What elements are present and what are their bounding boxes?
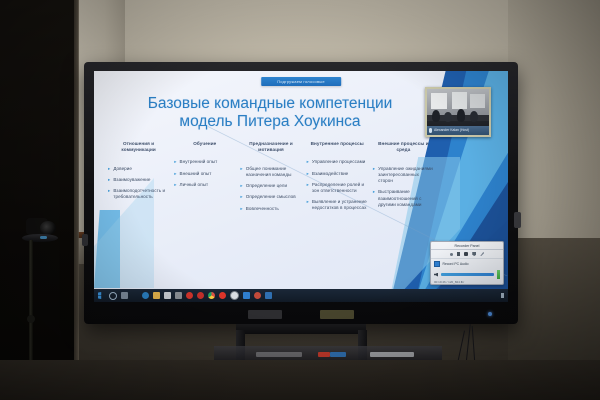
column-purpose: Предназначение и мотивация ▸ Общее поним… — [240, 141, 301, 217]
stop-icon[interactable] — [464, 252, 468, 256]
list-item: ▸ Взаимодействие — [307, 171, 368, 177]
slide-title-line-1: Базовые командные компетенции — [120, 95, 420, 113]
bullet-arrow-icon: ▸ — [108, 188, 110, 194]
column-header: Отношения и коммуникации — [108, 141, 169, 154]
list-item: ▸ Управление процессами — [307, 159, 368, 165]
record-audio-label: Record PC Audio — [443, 262, 469, 266]
list-item-label: Доверие — [113, 166, 132, 172]
list-item-label: Внешний опыт — [180, 171, 212, 177]
webcam-person-3 — [457, 109, 466, 122]
list-item: ▸ Выстраивание взаимоотношений с другими… — [373, 189, 434, 208]
list-item-label: Внутренний опыт — [180, 159, 218, 165]
speaker-icon[interactable] — [434, 273, 438, 277]
list-item: ▸ Управление ожиданиями заинтересованных… — [373, 166, 434, 185]
bullet-arrow-icon: ▸ — [108, 166, 110, 172]
display-bottom-stickers — [248, 310, 354, 319]
column-external-processes: Внешние процессы и среда ▸ Управление ож… — [373, 141, 434, 217]
pen-icon[interactable] — [480, 252, 484, 256]
bullet-arrow-icon: ▸ — [240, 166, 242, 172]
volume-row[interactable] — [431, 269, 503, 280]
recorder-status: 00:19:46 / 120_824.fbr — [431, 280, 503, 284]
bullet-arrow-icon: ▸ — [240, 206, 242, 212]
system-tray[interactable] — [501, 293, 504, 298]
yandex-icon[interactable] — [219, 292, 226, 299]
level-meter — [497, 270, 500, 279]
list-item-label: Выстраивание взаимоотношений с другими к… — [378, 189, 434, 208]
pause-icon[interactable] — [457, 252, 461, 256]
shelf-device-1 — [256, 352, 302, 357]
list-item: ▸ Выявление и устранение недостатков в п… — [307, 199, 368, 211]
microphone-icon — [429, 128, 432, 133]
file-explorer-icon[interactable] — [153, 292, 160, 299]
webcam-person-2 — [444, 112, 451, 122]
tripod-knob-upper — [27, 315, 35, 323]
display-bezel-inner: Подгружаем голосовые Базовые командные к… — [94, 71, 508, 302]
volume-slider[interactable] — [441, 273, 494, 276]
list-item: ▸ Взаимоподотчетность и требовательность — [108, 188, 169, 200]
list-item: ▸ Внутренний опыт — [174, 159, 235, 165]
start-button-icon[interactable] — [98, 292, 105, 299]
recorder-panel-title: Recorder Panel — [431, 242, 503, 250]
column-header: Внутренние процессы — [307, 141, 368, 147]
camera-lens-icon — [40, 221, 56, 235]
list-item: ▸ Личный опыт — [174, 182, 235, 188]
shelf-device-4 — [370, 352, 414, 357]
bullet-arrow-icon: ▸ — [174, 171, 176, 177]
webcam-whiteboard-2 — [452, 92, 467, 109]
display-side-button[interactable] — [514, 212, 521, 228]
dark-doorway — [0, 0, 78, 400]
bullet-arrow-icon: ▸ — [307, 159, 309, 165]
list-item: ▸ Распределение ролей и зон ответственно… — [307, 182, 368, 194]
bullet-arrow-icon: ▸ — [174, 182, 176, 188]
list-item: ▸ Определение смыслов — [240, 194, 301, 200]
list-item-label: Личный опыт — [180, 182, 209, 188]
floor — [0, 360, 600, 400]
list-item-label: Управление ожиданиями заинтересованных с… — [378, 166, 434, 185]
checkbox-icon[interactable] — [434, 261, 440, 267]
display-sticker-left — [248, 310, 282, 319]
column-header: Обучение — [174, 141, 235, 147]
edge-icon[interactable] — [142, 292, 149, 299]
list-item-label: Выявление и устранение недостатков в про… — [312, 199, 368, 211]
briefcase-icon[interactable] — [175, 292, 182, 299]
bullet-arrow-icon: ▸ — [373, 189, 375, 195]
presentation-slide: Подгружаем голосовые Базовые командные к… — [94, 71, 508, 302]
tray-indicator-icon — [501, 293, 504, 298]
search-icon[interactable] — [109, 292, 117, 300]
list-item-label: Управление процессами — [312, 159, 365, 165]
list-item-label: Вовлеченность — [246, 206, 279, 212]
webcam-participant-label: Alexander Kalan (Host) — [427, 126, 489, 135]
webcam-thumbnail[interactable]: Alexander Kalan (Host) — [425, 87, 491, 137]
wall-display: Подгружаем голосовые Базовые командные к… — [84, 62, 518, 324]
list-item: ▸ Взаимоуважение — [108, 177, 169, 183]
list-item: ▸ Внешний опыт — [174, 171, 235, 177]
wall-right-upper — [508, 0, 600, 238]
chrome-icon[interactable] — [208, 292, 215, 299]
shelf-device-3 — [330, 352, 346, 357]
shelf-device-2 — [318, 352, 330, 357]
bullet-arrow-icon: ▸ — [240, 194, 242, 200]
save-icon[interactable] — [472, 252, 476, 256]
opera-icon[interactable] — [186, 292, 193, 299]
bullet-arrow-icon: ▸ — [307, 171, 309, 177]
display-screen: Подгружаем голосовые Базовые командные к… — [94, 71, 508, 302]
task-view-icon[interactable] — [121, 292, 128, 299]
webcam-whiteboard-3 — [470, 94, 485, 109]
display-sticker-right — [320, 310, 354, 319]
bullet-arrow-icon: ▸ — [108, 177, 110, 183]
meeting-notification-banner: Подгружаем голосовые — [261, 77, 341, 86]
display-side-button-left[interactable] — [82, 234, 88, 246]
display-power-led-icon — [488, 312, 492, 316]
bullet-arrow-icon: ▸ — [240, 183, 242, 189]
slide-title-line-2: модель Питера Хоукинса — [120, 113, 420, 131]
webcam-whiteboard-1 — [431, 93, 447, 110]
list-item-label: Взаимоуважение — [113, 177, 150, 183]
opera-gx-icon[interactable] — [197, 292, 204, 299]
room-scene: Подгружаем голосовые Базовые командные к… — [0, 0, 600, 400]
bullet-arrow-icon: ▸ — [373, 166, 375, 172]
competency-columns: Отношения и коммуникации ▸ Доверие ▸ Вза… — [108, 141, 434, 217]
bullet-arrow-icon: ▸ — [174, 159, 176, 165]
list-item-label: Взаимоподотчетность и требовательность — [113, 188, 169, 200]
mezzanine-icon[interactable] — [265, 292, 272, 299]
column-header: Внешние процессы и среда — [373, 141, 434, 154]
record-audio-checkbox-row[interactable]: Record PC Audio — [431, 259, 503, 269]
recorder-panel[interactable]: Recorder Panel Record PC Audio — [430, 241, 504, 285]
ptz-camera — [20, 218, 64, 244]
windows-taskbar[interactable] — [94, 289, 508, 302]
column-relationships: Отношения и коммуникации ▸ Доверие ▸ Вза… — [108, 141, 169, 217]
list-item: ▸ Доверие — [108, 166, 169, 172]
recorder-icon[interactable] — [254, 292, 261, 299]
column-internal-processes: Внутренние процессы ▸ Управление процесс… — [307, 141, 368, 217]
list-item: ▸ Вовлеченность — [240, 206, 301, 212]
list-item: ▸ Общее понимание назначения команды — [240, 166, 301, 178]
bullet-arrow-icon: ▸ — [307, 199, 309, 205]
door-frame-edge — [74, 0, 79, 400]
bullet-arrow-icon: ▸ — [307, 182, 309, 188]
record-icon[interactable] — [450, 253, 453, 256]
list-item-label: Общее понимание назначения команды — [246, 166, 302, 178]
webcam-person-1 — [432, 110, 440, 122]
telegram-icon[interactable] — [243, 292, 250, 299]
tv-stand-neck — [236, 324, 366, 334]
list-item: ▸ Определение цели — [240, 183, 301, 189]
teamviewer-icon[interactable] — [230, 291, 239, 300]
list-item-label: Взаимодействие — [312, 171, 348, 177]
list-item-label: Определение смыслов — [246, 194, 296, 200]
camera-led-icon — [40, 236, 47, 239]
slide-title: Базовые командные компетенции модель Пит… — [120, 95, 420, 132]
store-icon[interactable] — [164, 292, 171, 299]
column-learning: Обучение ▸ Внутренний опыт ▸ Внешний опы… — [174, 141, 235, 217]
column-header: Предназначение и мотивация — [240, 141, 301, 154]
list-item-label: Распределение ролей и зон ответственност… — [312, 182, 368, 194]
list-item-label: Определение цели — [246, 183, 287, 189]
recorder-toolbar[interactable] — [431, 250, 503, 259]
